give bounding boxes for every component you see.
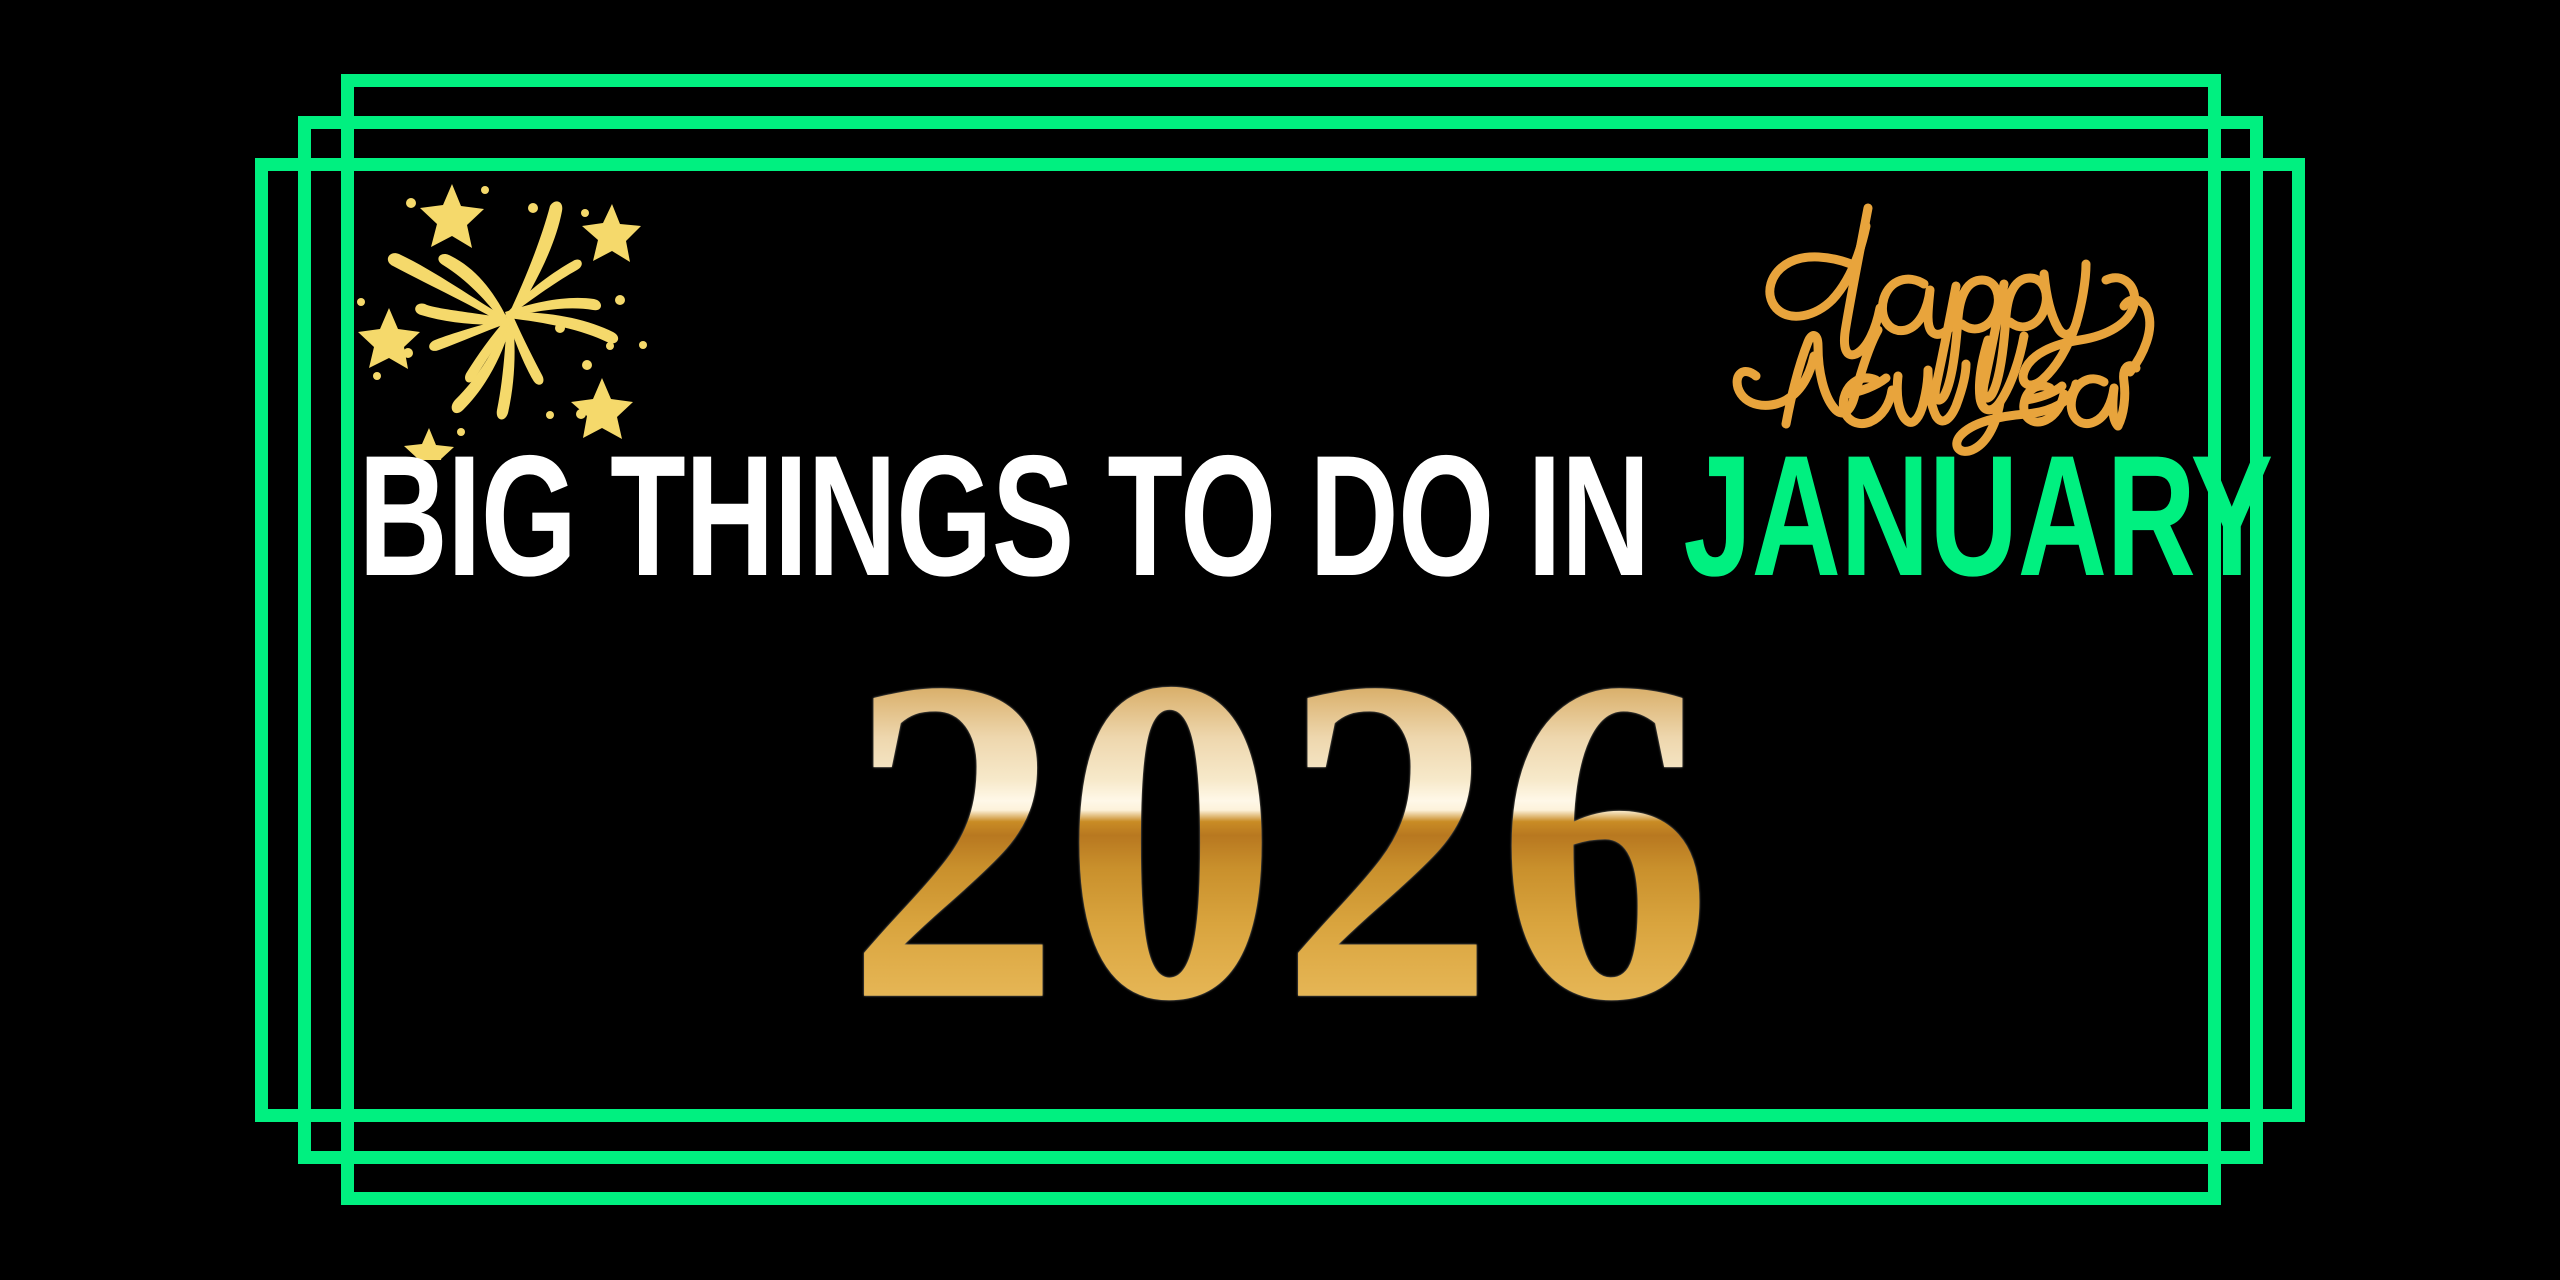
page-title: BIG THINGS TO DO IN JANUARY xyxy=(358,430,2201,602)
year-text: 2026 xyxy=(846,608,1714,1072)
headline-accent-text: JANUARY xyxy=(1683,420,2272,612)
fireworks-icon xyxy=(355,160,695,460)
poster-canvas: BIG THINGS TO DO IN JANUARY 2026 xyxy=(0,0,2560,1280)
happy-new-year-script xyxy=(1720,168,2160,458)
year-container: 2026 xyxy=(0,608,2560,1038)
